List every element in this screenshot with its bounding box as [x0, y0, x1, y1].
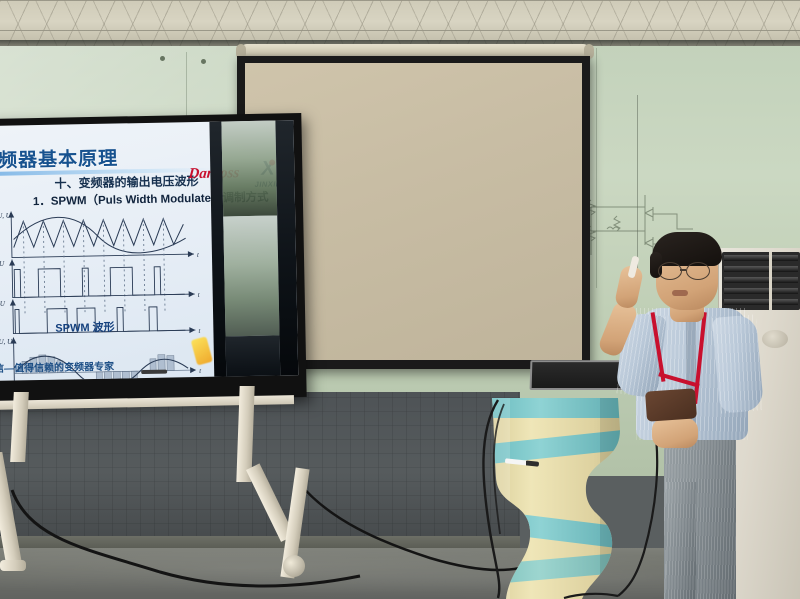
axis-label-top: U, U	[0, 212, 12, 220]
tv-screen: 变频器基本原理 十、变频器的输出电压波形 1．SPWM（Puls Width M…	[0, 120, 298, 381]
slide-title: 变频器基本原理	[0, 144, 118, 174]
photo-scene: 变频器基本原理 十、变频器的输出电压波形 1．SPWM（Puls Width M…	[0, 0, 800, 599]
wall-fixing-dot	[160, 56, 165, 61]
presenter-leg-left	[666, 482, 696, 599]
tv-stand-caster	[283, 555, 305, 577]
axis-label-mid: U	[0, 260, 5, 268]
screen-reflection-dark	[226, 335, 281, 380]
tv-brand-mark	[141, 370, 167, 374]
axis-label-low: U	[0, 300, 6, 308]
screen-reflection-frame	[275, 120, 298, 375]
presenter-sleeve-left	[712, 314, 764, 413]
tv-stand-foot-left	[0, 560, 26, 571]
presenter	[600, 232, 770, 599]
slide-section-heading: 十、变频器的输出电压波形	[54, 172, 198, 192]
wall-fixing-dot	[201, 59, 206, 64]
glasses-lens-right	[686, 262, 710, 280]
screen-reflection-window-lower	[223, 215, 279, 336]
glasses-lens-left	[658, 262, 682, 280]
axis-label-bottom: U, U	[0, 338, 13, 346]
axis-label-time: t	[199, 367, 202, 375]
slide-footer: 津信—值得信赖的变频器专家	[0, 358, 114, 375]
presenter-hand-left	[652, 418, 698, 448]
presenter-hair	[652, 232, 722, 266]
screen-reflection-window-upper	[221, 120, 277, 216]
presenter-mouth	[672, 290, 688, 296]
display-tv[interactable]: 变频器基本原理 十、变频器的输出电压波形 1．SPWM（Puls Width M…	[0, 113, 307, 403]
held-dark-object[interactable]	[645, 388, 697, 421]
glasses-bridge	[680, 269, 686, 271]
